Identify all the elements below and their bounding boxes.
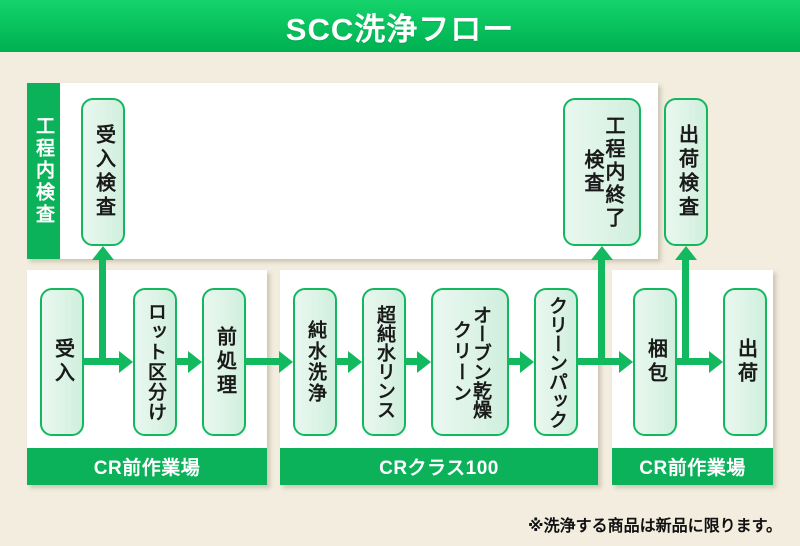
page-title: SCC洗浄フロー	[286, 4, 514, 49]
inspection-box-process-end[interactable]: 工程内終了 検査	[563, 98, 641, 246]
zone-footer-pre-cr-1: CR前作業場	[27, 448, 267, 485]
process-box-clean-oven-drying[interactable]: オーブン乾燥 クリーン	[431, 288, 509, 436]
process-box-receiving[interactable]: 受入	[40, 288, 84, 436]
zone-footer-cr-class-100-label: CRクラス100	[379, 453, 499, 480]
inspection-box-shipping-label: 出荷検査	[676, 124, 697, 220]
process-box-shipping-label: 出荷	[735, 338, 756, 386]
process-box-pretreatment[interactable]: 前処理	[202, 288, 246, 436]
process-box-lot-sorting-label: ロット区分け	[145, 302, 165, 422]
inspection-box-process-end-columns: 工程内終了 検査	[581, 100, 623, 244]
process-box-clean-oven-drying-columns: オーブン乾燥 クリーン	[450, 290, 490, 434]
flow-diagram-canvas: SCC洗浄フロー 工程内検査 受入検査 工程内終了 検査 出荷検査 CR前作業場…	[0, 0, 800, 546]
process-box-clean-oven-drying-label-sub: クリーン	[450, 320, 470, 404]
process-box-shipping[interactable]: 出荷	[723, 288, 767, 436]
process-box-pure-water-wash[interactable]: 純水洗浄	[293, 288, 337, 436]
inspection-box-process-end-label-sub: 検査	[581, 149, 602, 195]
page-title-bar: SCC洗浄フロー	[0, 0, 800, 52]
footnote: ※洗浄する商品は新品に限ります。	[528, 512, 782, 536]
zone-footer-pre-cr-2-label: CR前作業場	[639, 453, 745, 480]
zone-footer-pre-cr-1-label: CR前作業場	[94, 453, 200, 480]
process-box-clean-pack-label: クリーンパック	[546, 296, 566, 429]
process-box-receiving-label: 受入	[52, 338, 73, 386]
process-box-ultrapure-water-rinse[interactable]: 超純水リンス	[362, 288, 406, 436]
inspection-box-receiving-label: 受入検査	[93, 124, 114, 220]
process-box-ultrapure-water-rinse-label: 超純水リンス	[374, 305, 394, 419]
inspection-box-receiving[interactable]: 受入検査	[81, 98, 125, 246]
process-box-packing[interactable]: 梱包	[633, 288, 677, 436]
inspection-box-shipping[interactable]: 出荷検査	[664, 98, 708, 246]
inspection-row-tab: 工程内検査	[27, 83, 60, 259]
process-box-clean-pack[interactable]: クリーンパック	[534, 288, 578, 436]
zone-footer-pre-cr-2: CR前作業場	[612, 448, 773, 485]
inspection-row-tab-label: 工程内検査	[30, 116, 57, 226]
inspection-box-process-end-label-main: 工程内終了	[602, 115, 623, 230]
process-box-lot-sorting[interactable]: ロット区分け	[133, 288, 177, 436]
process-box-packing-label: 梱包	[645, 338, 666, 386]
process-box-clean-oven-drying-label-main: オーブン乾燥	[470, 305, 490, 419]
process-box-pretreatment-label: 前処理	[214, 326, 235, 398]
process-box-pure-water-wash-label: 純水洗浄	[305, 320, 325, 404]
zone-footer-cr-class-100: CRクラス100	[280, 448, 598, 485]
